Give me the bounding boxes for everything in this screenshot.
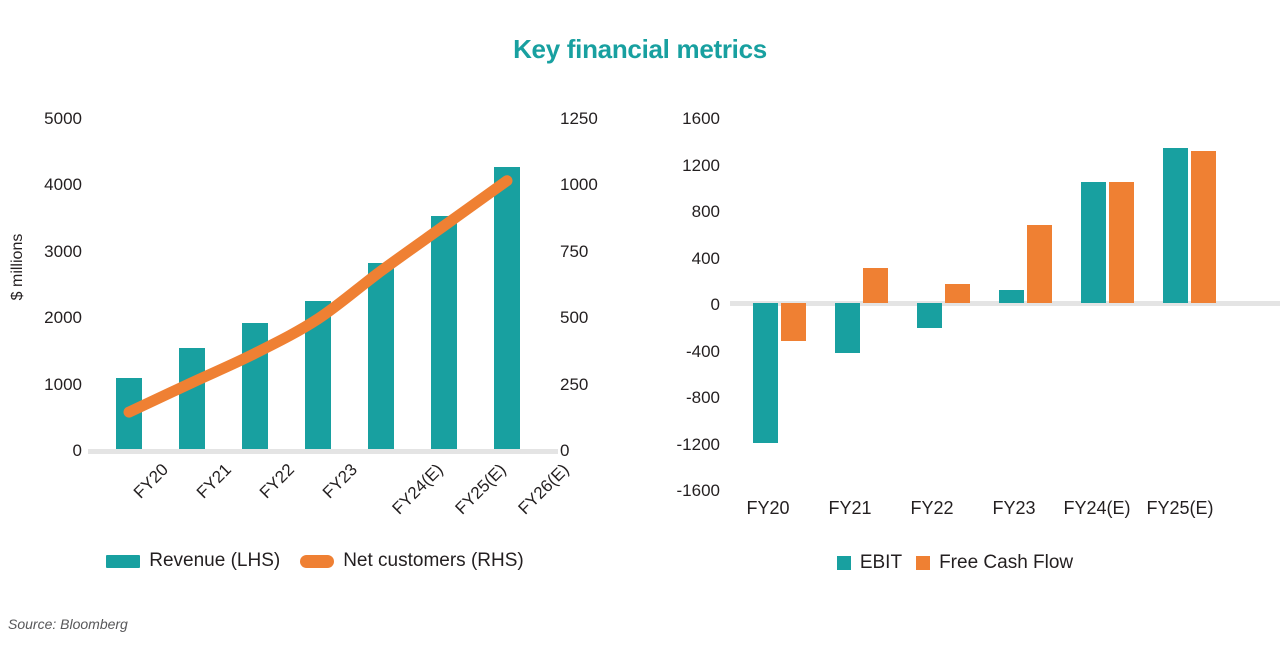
bar-ebit-fy22 <box>917 303 942 328</box>
left-axis-tick-3000: 3000 <box>22 243 82 260</box>
left-chart-legend: Revenue (LHS) Net customers (RHS) <box>0 550 630 572</box>
legend-label-ebit: EBIT <box>860 552 902 574</box>
bar-fcf-fy23 <box>1027 225 1052 303</box>
square-swatch-icon <box>916 556 930 570</box>
left-axis2-tick-750: 750 <box>560 243 620 260</box>
left-axis2-tick-250: 250 <box>560 376 620 393</box>
bar-swatch-icon <box>106 555 140 568</box>
right-xtick-fy25e: FY25(E) <box>1125 498 1235 519</box>
bar-ebit-fy24e <box>1081 182 1106 303</box>
right-axis-tick-400: 400 <box>630 250 720 267</box>
right-axis-tick-1600: 1600 <box>630 110 720 127</box>
right-axis-tick-m1200: -1200 <box>630 436 720 453</box>
bar-fcf-fy20 <box>781 303 806 341</box>
legend-label-revenue: Revenue (LHS) <box>149 550 280 572</box>
right-axis-tick-m400: -400 <box>630 343 720 360</box>
net-customers-line <box>92 117 548 449</box>
right-chart-legend: EBIT Free Cash Flow <box>630 552 1280 574</box>
left-axis-tick-2000: 2000 <box>22 309 82 326</box>
right-axis-tick-800: 800 <box>630 203 720 220</box>
left-xtick-fy26e: FY26(E) <box>515 460 574 519</box>
bar-ebit-fy23 <box>999 290 1024 303</box>
right-chart-plot-area <box>735 117 1275 489</box>
left-xtick-fy21: FY21 <box>193 460 236 503</box>
left-xtick-fy22: FY22 <box>256 460 299 503</box>
legend-label-free-cash-flow: Free Cash Flow <box>939 552 1073 574</box>
left-chart-plot-area <box>92 117 548 449</box>
legend-item-revenue[interactable]: Revenue (LHS) <box>106 550 280 572</box>
left-axis-tick-0: 0 <box>22 442 82 459</box>
bar-ebit-fy21 <box>835 303 860 353</box>
bar-fcf-fy24e <box>1109 182 1134 303</box>
square-swatch-icon <box>837 556 851 570</box>
right-axis-tick-0: 0 <box>630 296 720 313</box>
legend-label-net-customers: Net customers (RHS) <box>343 550 524 572</box>
bar-fcf-fy22 <box>945 284 970 303</box>
left-axis-tick-4000: 4000 <box>22 176 82 193</box>
right-chart-panel: 1600 1200 800 400 0 -400 -800 -1200 -160… <box>630 0 1280 668</box>
left-chart-y-axis-label: $ millions <box>9 212 27 322</box>
left-xtick-fy25e: FY25(E) <box>452 460 511 519</box>
left-xtick-fy23: FY23 <box>319 460 362 503</box>
bar-ebit-fy25e <box>1163 148 1188 303</box>
legend-item-net-customers[interactable]: Net customers (RHS) <box>300 550 524 572</box>
left-axis2-tick-500: 500 <box>560 309 620 326</box>
line-swatch-icon <box>300 555 334 568</box>
left-axis2-tick-0: 0 <box>560 442 620 459</box>
bar-fcf-fy21 <box>863 268 888 303</box>
left-chart-panel: $ millions 5000 4000 3000 2000 1000 0 12… <box>0 0 630 668</box>
right-axis-tick-1200: 1200 <box>630 157 720 174</box>
left-xtick-fy20: FY20 <box>130 460 173 503</box>
left-chart-baseline <box>88 449 558 454</box>
bar-fcf-fy25e <box>1191 151 1216 303</box>
bar-ebit-fy20 <box>753 303 778 443</box>
left-axis2-tick-1250: 1250 <box>560 110 620 127</box>
legend-item-free-cash-flow[interactable]: Free Cash Flow <box>916 552 1073 574</box>
right-axis-tick-m1600: -1600 <box>630 482 720 499</box>
source-note: Source: Bloomberg <box>8 616 128 632</box>
left-axis2-tick-1000: 1000 <box>560 176 620 193</box>
left-axis-tick-1000: 1000 <box>22 376 82 393</box>
left-xtick-fy24e: FY24(E) <box>389 460 448 519</box>
left-axis-tick-5000: 5000 <box>22 110 82 127</box>
right-axis-tick-m800: -800 <box>630 389 720 406</box>
legend-item-ebit[interactable]: EBIT <box>837 552 902 574</box>
